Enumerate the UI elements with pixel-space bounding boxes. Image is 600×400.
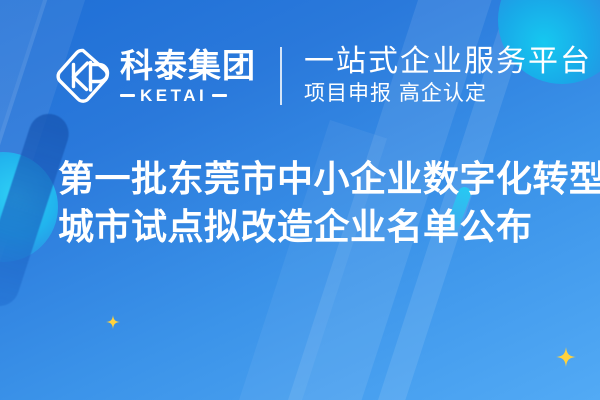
sparkle-star-icon: [106, 315, 120, 329]
brand-logo[interactable]: 科泰集团 KETAI: [54, 45, 256, 107]
tagline-secondary: 项目申报 高企认定: [304, 81, 592, 107]
brand-name-en: KETAI: [140, 87, 207, 104]
promo-banner: 科泰集团 KETAI 一站式企业服务平台 项目申报 高企认定 第一批东莞市中小企…: [0, 0, 600, 400]
brand-wordmark: 科泰集团 KETAI: [120, 49, 256, 104]
headline-line-1: 第一批东莞市中小企业数字化转型: [58, 155, 558, 203]
sparkle-star-icon: [556, 347, 576, 367]
headline: 第一批东莞市中小企业数字化转型 城市试点拟改造企业名单公布: [58, 155, 558, 250]
ketai-diamond-kp-monogram-icon: [54, 45, 112, 107]
brand-name-en-row: KETAI: [120, 87, 256, 104]
brand-name-cn: 科泰集团: [120, 49, 256, 82]
dash-right-icon: [212, 94, 227, 97]
banner-header: 科泰集团 KETAI 一站式企业服务平台 项目申报 高企认定: [0, 38, 600, 114]
tagline: 一站式企业服务平台 项目申报 高企认定: [304, 45, 592, 108]
tagline-primary: 一站式企业服务平台: [304, 45, 592, 79]
dash-left-icon: [120, 94, 135, 97]
header-divider: [280, 47, 282, 105]
headline-line-2: 城市试点拟改造企业名单公布: [58, 203, 558, 251]
